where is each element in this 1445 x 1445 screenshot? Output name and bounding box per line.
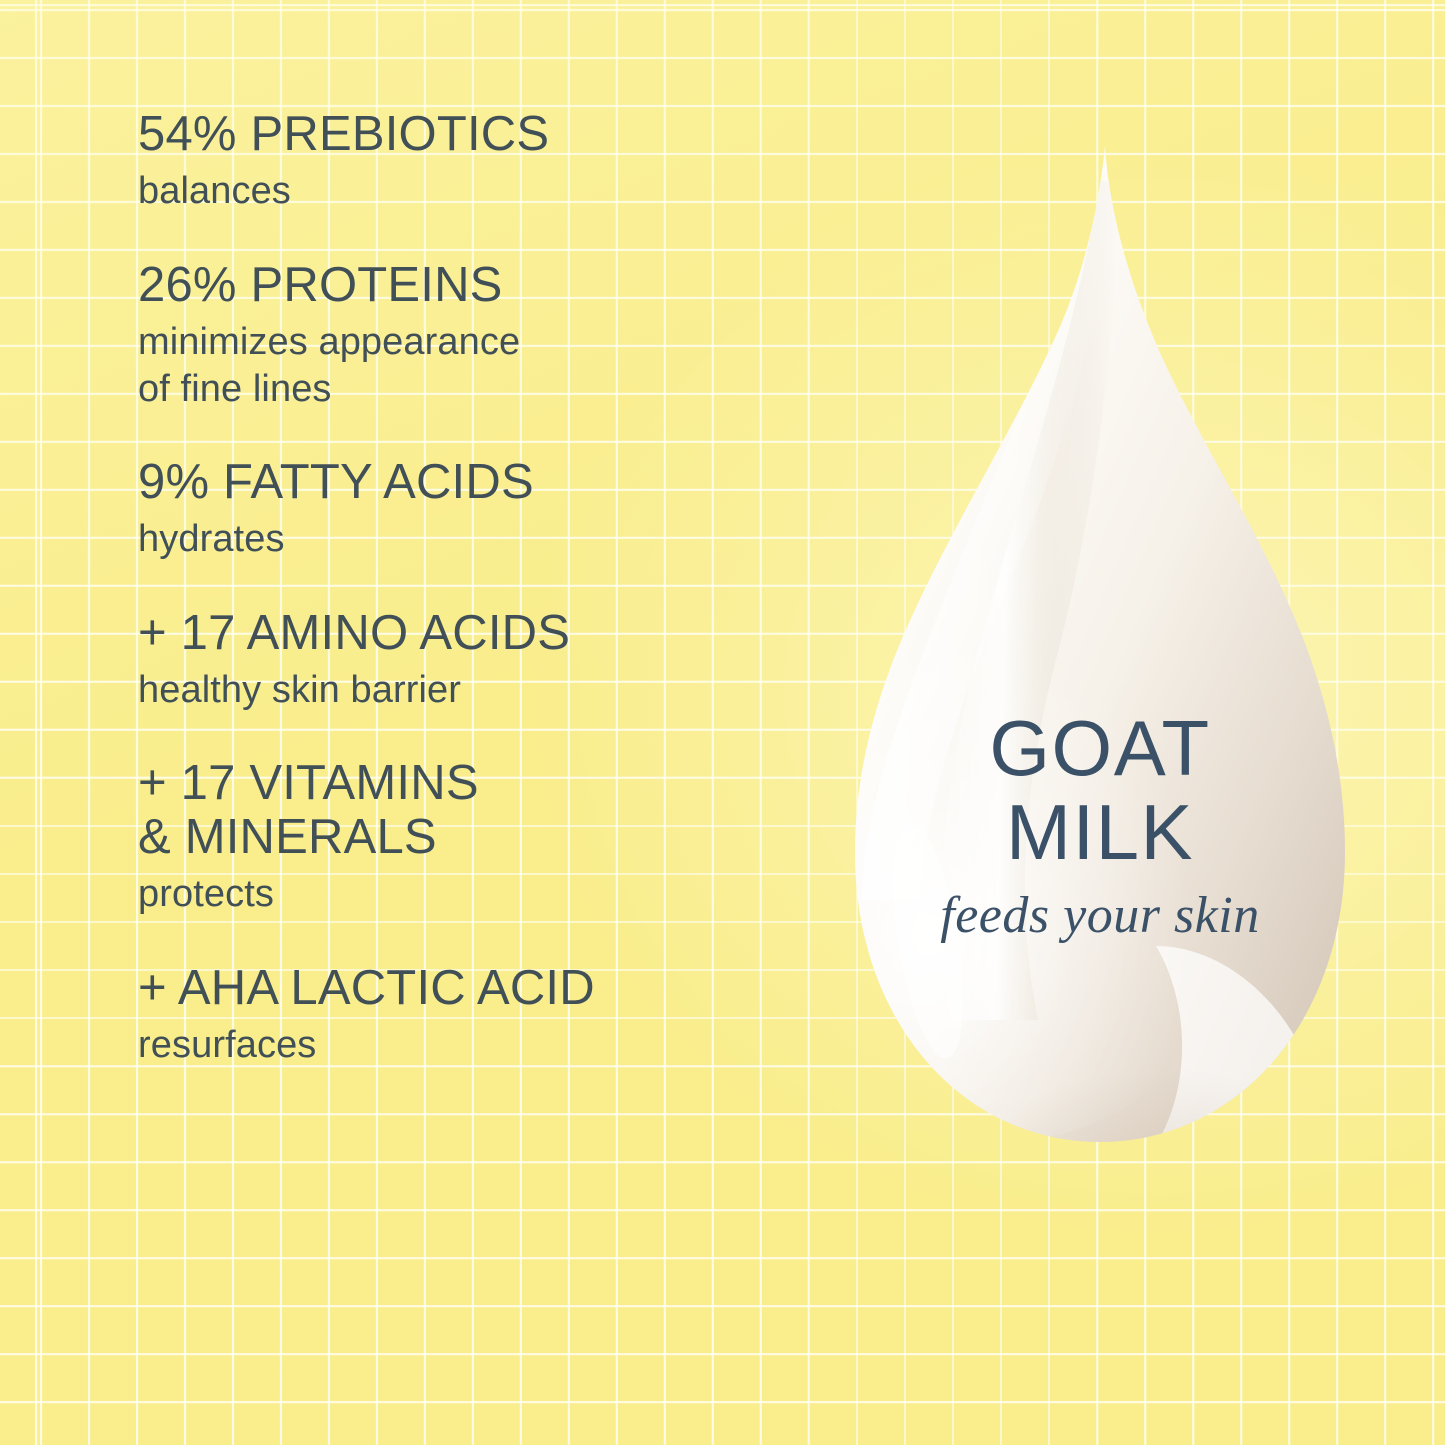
- milk-droplet-icon: [800, 140, 1400, 1170]
- fact-item: 9% FATTY ACIDS hydrates: [138, 456, 818, 563]
- fact-item: 26% PROTEINS minimizes appearance of fin…: [138, 259, 818, 412]
- fact-title: + 17 AMINO ACIDS: [138, 607, 818, 660]
- fact-description: resurfaces: [138, 1022, 818, 1068]
- fact-item: 54% PREBIOTICS balances: [138, 108, 818, 215]
- fact-description: hydrates: [138, 516, 818, 562]
- fact-description: healthy skin barrier: [138, 667, 818, 713]
- fact-item: + AHA LACTIC ACID resurfaces: [138, 962, 818, 1069]
- milk-droplet-graphic: GOAT MILK feeds your skin: [800, 140, 1400, 1170]
- ingredient-fact-list: 54% PREBIOTICS balances 26% PROTEINS min…: [138, 108, 818, 1068]
- fact-description: balances: [138, 168, 818, 214]
- fact-description: protects: [138, 871, 818, 917]
- fact-title: + AHA LACTIC ACID: [138, 962, 818, 1015]
- fact-title: 54% PREBIOTICS: [138, 108, 818, 161]
- fact-title: + 17 VITAMINS & MINERALS: [138, 757, 818, 864]
- fact-item: + 17 AMINO ACIDS healthy skin barrier: [138, 607, 818, 714]
- fact-item: + 17 VITAMINS & MINERALS protects: [138, 757, 818, 917]
- fact-title: 9% FATTY ACIDS: [138, 456, 818, 509]
- goat-milk-ingredient-infographic: 54% PREBIOTICS balances 26% PROTEINS min…: [0, 0, 1445, 1445]
- fact-title: 26% PROTEINS: [138, 259, 818, 312]
- fact-description: minimizes appearance of fine lines: [138, 319, 818, 412]
